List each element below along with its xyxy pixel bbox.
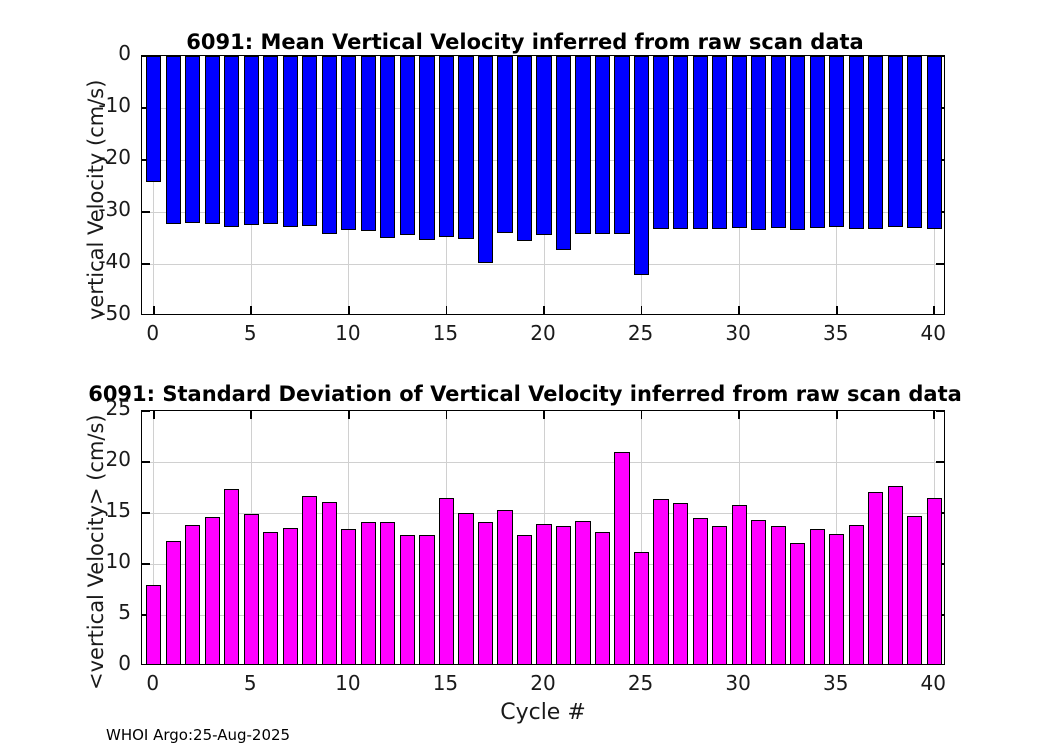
x-axis-tick-label: 20 xyxy=(503,671,583,695)
bar xyxy=(205,517,220,664)
x-axis-tick xyxy=(446,306,448,314)
x-axis-tick-label: 10 xyxy=(308,321,388,345)
bar xyxy=(810,529,825,664)
bar xyxy=(302,56,317,226)
bar xyxy=(322,502,337,664)
bar xyxy=(497,56,512,233)
x-axis-tick xyxy=(641,411,643,419)
bar xyxy=(146,585,161,664)
x-axis-tick xyxy=(153,306,155,314)
bar xyxy=(927,498,942,664)
bar xyxy=(419,535,434,664)
x-axis-tick xyxy=(836,306,838,314)
bar xyxy=(458,56,473,239)
bar xyxy=(810,56,825,228)
bar xyxy=(380,522,395,664)
plot-area-std xyxy=(142,411,944,664)
x-axis-tick-label: 40 xyxy=(893,671,973,695)
bar xyxy=(166,541,181,664)
x-axis-tick xyxy=(933,306,935,314)
bar xyxy=(712,56,727,229)
x-axis-tick-label: 30 xyxy=(698,321,778,345)
bar xyxy=(790,543,805,664)
bar xyxy=(185,56,200,223)
bar xyxy=(595,56,610,234)
bar xyxy=(400,535,415,664)
bar xyxy=(634,56,649,275)
y-axis-tick xyxy=(936,461,944,463)
chart-title-mean: 6091: Mean Vertical Velocity inferred fr… xyxy=(0,30,1050,54)
bar xyxy=(614,452,629,664)
x-axis-tick xyxy=(446,411,448,419)
bar xyxy=(575,521,590,664)
x-axis-tick xyxy=(348,306,350,314)
y-axis-tick-label: 5 xyxy=(45,600,131,624)
bar xyxy=(888,56,903,227)
bar xyxy=(907,516,922,664)
bar xyxy=(653,499,668,664)
x-axis-tick xyxy=(543,411,545,419)
figure-canvas: 6091: Mean Vertical Velocity inferred fr… xyxy=(0,0,1050,750)
bar xyxy=(361,56,376,231)
x-axis-tick-label: 35 xyxy=(796,671,876,695)
bar xyxy=(458,513,473,664)
y-axis-tick xyxy=(142,263,150,265)
y-axis-tick xyxy=(936,263,944,265)
y-axis-tick xyxy=(142,512,150,514)
bar xyxy=(751,520,766,664)
y-axis-tick-label: -40 xyxy=(45,249,131,273)
x-axis-tick-label: 15 xyxy=(405,321,485,345)
x-axis-tick xyxy=(933,411,935,419)
bar xyxy=(732,56,747,228)
bar xyxy=(497,510,512,664)
bar xyxy=(341,529,356,664)
bar xyxy=(556,526,571,664)
bar xyxy=(829,56,844,227)
bar xyxy=(673,503,688,664)
bar xyxy=(790,56,805,230)
bar xyxy=(907,56,922,228)
bar xyxy=(751,56,766,230)
bar xyxy=(146,56,161,182)
bar xyxy=(166,56,181,224)
bar xyxy=(283,528,298,664)
y-axis-tick xyxy=(142,563,150,565)
bar xyxy=(829,534,844,664)
bar xyxy=(868,492,883,664)
y-axis-tick xyxy=(936,411,944,412)
x-axis-tick xyxy=(250,411,252,419)
y-axis-tick-label: -20 xyxy=(45,145,131,169)
bar xyxy=(224,56,239,227)
x-axis-tick-label: 5 xyxy=(210,321,290,345)
bar xyxy=(556,56,571,250)
bar xyxy=(849,525,864,664)
bar xyxy=(732,505,747,664)
x-axis-tick-label: 25 xyxy=(601,321,681,345)
x-axis-tick-label: 10 xyxy=(308,671,388,695)
y-axis-tick xyxy=(142,211,150,213)
bar xyxy=(224,489,239,664)
x-axis-tick-label: 0 xyxy=(113,671,193,695)
x-axis-tick xyxy=(250,306,252,314)
bar xyxy=(634,552,649,664)
axes-std-velocity xyxy=(141,410,945,665)
x-axis-tick xyxy=(738,306,740,314)
footer-credit: WHOI Argo:25-Aug-2025 xyxy=(106,726,290,744)
bar xyxy=(478,522,493,664)
y-axis-tick-label: 15 xyxy=(45,498,131,522)
x-axis-tick xyxy=(348,411,350,419)
bar xyxy=(536,56,551,235)
bar xyxy=(302,496,317,664)
y-axis-tick-label: -30 xyxy=(45,197,131,221)
x-axis-tick xyxy=(641,306,643,314)
bar xyxy=(322,56,337,234)
bar xyxy=(693,56,708,229)
x-axis-tick-label: 5 xyxy=(210,671,290,695)
bar xyxy=(439,498,454,664)
bar xyxy=(263,56,278,224)
bar xyxy=(517,535,532,664)
y-axis-tick-label: -10 xyxy=(45,93,131,117)
bar xyxy=(517,56,532,241)
y-axis-tick-label: 25 xyxy=(45,396,131,420)
x-axis-tick-label: 15 xyxy=(405,671,485,695)
bar xyxy=(868,56,883,229)
bar xyxy=(283,56,298,227)
bar xyxy=(341,56,356,230)
bar xyxy=(575,56,590,234)
bar xyxy=(263,532,278,664)
x-axis-tick-label: 30 xyxy=(698,671,778,695)
bar xyxy=(712,526,727,664)
plot-area-mean xyxy=(142,56,944,314)
bar xyxy=(536,524,551,664)
axes-mean-velocity xyxy=(141,55,945,315)
bar xyxy=(849,56,864,229)
bar xyxy=(673,56,688,229)
y-axis-tick-label: 20 xyxy=(45,447,131,471)
x-axis-tick-label: 25 xyxy=(601,671,681,695)
x-axis-tick-label: 0 xyxy=(113,321,193,345)
bar xyxy=(380,56,395,238)
bar xyxy=(927,56,942,229)
x-axis-tick-label: 20 xyxy=(503,321,583,345)
bar xyxy=(693,518,708,664)
x-axis-tick-label: 40 xyxy=(893,321,973,345)
bar xyxy=(888,486,903,664)
y-axis-tick xyxy=(142,461,150,463)
bar xyxy=(419,56,434,240)
y-axis-tick-label: 0 xyxy=(45,41,131,65)
bar xyxy=(244,514,259,664)
y-axis-tick-label: 10 xyxy=(45,549,131,573)
bar xyxy=(400,56,415,235)
x-axis-tick xyxy=(153,411,155,419)
x-axis-tick xyxy=(836,411,838,419)
x-axis-title-cycle: Cycle # xyxy=(141,700,945,725)
bar xyxy=(439,56,454,237)
bar xyxy=(771,56,786,228)
bar xyxy=(653,56,668,229)
bar xyxy=(595,532,610,664)
bar xyxy=(614,56,629,234)
bar xyxy=(771,526,786,664)
x-axis-tick xyxy=(543,306,545,314)
bar xyxy=(185,525,200,664)
bar xyxy=(361,522,376,664)
bar xyxy=(478,56,493,263)
bar xyxy=(244,56,259,225)
bar xyxy=(205,56,220,224)
chart-title-std: 6091: Standard Deviation of Vertical Vel… xyxy=(0,382,1050,406)
x-axis-tick xyxy=(738,411,740,419)
x-axis-tick-label: 35 xyxy=(796,321,876,345)
y-axis-tick xyxy=(142,411,150,412)
